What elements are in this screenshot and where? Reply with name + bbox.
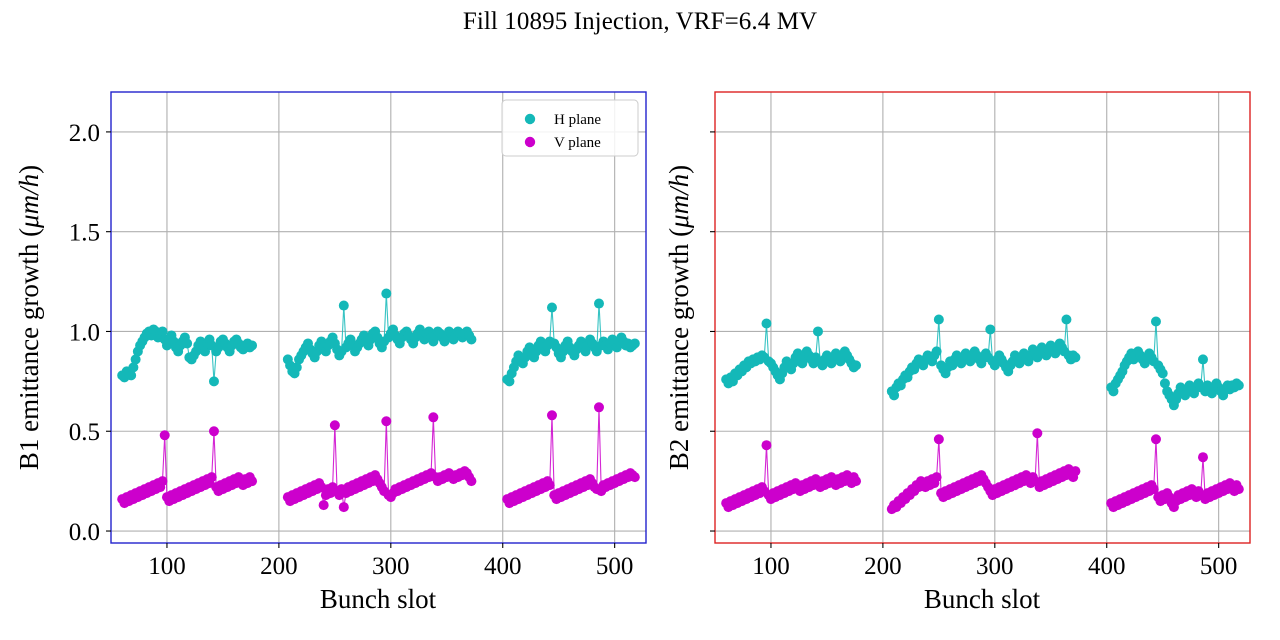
xtick-label: 400 xyxy=(1088,553,1126,580)
data-point xyxy=(1032,428,1042,438)
xtick-label: 400 xyxy=(484,553,522,580)
yaxis-label-text: B2 emittance growth ( xyxy=(664,228,694,470)
yaxis-label: B2 emittance growth (μm/h) xyxy=(664,165,694,470)
data-point xyxy=(247,476,257,486)
data-point xyxy=(630,472,640,482)
data-point xyxy=(545,480,555,490)
data-point xyxy=(934,434,944,444)
yaxis-label-unit: μm/h xyxy=(664,174,694,229)
data-point xyxy=(1234,484,1244,494)
data-point xyxy=(207,472,217,482)
ytick-label: 0.0 xyxy=(69,519,100,546)
panel-left: 1002003004005000.00.51.01.52.0Bunch slot… xyxy=(14,92,646,614)
data-point xyxy=(1198,354,1208,364)
figure-canvas: Fill 10895 Injection, VRF=6.4 MV 1002003… xyxy=(0,0,1280,640)
xtick-label: 200 xyxy=(260,553,298,580)
data-point xyxy=(932,346,942,356)
data-point xyxy=(381,416,391,426)
xtick-label: 500 xyxy=(596,553,634,580)
panel-right: 100200300400500Bunch slotB2 emittance gr… xyxy=(664,92,1250,614)
data-point xyxy=(1151,316,1161,326)
xtick-label: 200 xyxy=(864,553,902,580)
legend-marker xyxy=(525,137,535,147)
data-point xyxy=(1070,352,1080,362)
data-point xyxy=(761,318,771,328)
data-point xyxy=(157,476,167,486)
data-point xyxy=(330,420,340,430)
legend: H planeV plane xyxy=(502,100,638,156)
yaxis-label-paren: ) xyxy=(664,165,694,174)
data-point xyxy=(851,476,861,486)
yaxis-label-unit: μm/h xyxy=(14,174,44,229)
data-point xyxy=(594,402,604,412)
data-point xyxy=(319,500,329,510)
ytick-label: 2.0 xyxy=(69,120,100,147)
data-point xyxy=(209,376,219,386)
data-point xyxy=(851,360,861,370)
data-point xyxy=(1151,434,1161,444)
ytick-label: 0.5 xyxy=(69,419,100,446)
data-point xyxy=(1198,452,1208,462)
xtick-label: 300 xyxy=(976,553,1014,580)
yaxis-label-text: B1 emittance growth ( xyxy=(14,228,44,470)
data-point xyxy=(1070,466,1080,476)
data-point xyxy=(381,289,391,299)
data-point xyxy=(761,440,771,450)
data-point xyxy=(985,324,995,334)
data-point xyxy=(813,326,823,336)
xtick-label: 500 xyxy=(1200,553,1238,580)
ytick-label: 1.5 xyxy=(69,220,100,247)
legend-label: V plane xyxy=(554,135,601,151)
data-point xyxy=(209,426,219,436)
data-point xyxy=(547,410,557,420)
data-point xyxy=(247,340,257,350)
data-point xyxy=(339,502,349,512)
data-point xyxy=(466,334,476,344)
plot-area: 1002003004005000.00.51.01.52.0Bunch slot… xyxy=(0,0,1280,640)
xtick-label: 300 xyxy=(372,553,410,580)
data-point xyxy=(1061,315,1071,325)
data-point xyxy=(630,338,640,348)
data-point xyxy=(1234,380,1244,390)
legend-label: H plane xyxy=(554,112,601,128)
data-point xyxy=(182,338,192,348)
data-point xyxy=(339,301,349,311)
data-point xyxy=(932,472,942,482)
data-point xyxy=(934,315,944,325)
data-point xyxy=(466,476,476,486)
data-point xyxy=(594,299,604,309)
yaxis-label: B1 emittance growth (μm/h) xyxy=(14,165,44,470)
legend-marker xyxy=(525,114,535,124)
xaxis-label: Bunch slot xyxy=(924,584,1041,614)
xtick-label: 100 xyxy=(752,553,790,580)
data-point xyxy=(547,303,557,313)
data-point xyxy=(428,412,438,422)
data-point xyxy=(1158,368,1168,378)
ytick-label: 1.0 xyxy=(69,319,100,346)
data-point xyxy=(160,430,170,440)
xaxis-label: Bunch slot xyxy=(320,584,437,614)
xtick-label: 100 xyxy=(148,553,186,580)
yaxis-label-paren: ) xyxy=(14,165,44,174)
